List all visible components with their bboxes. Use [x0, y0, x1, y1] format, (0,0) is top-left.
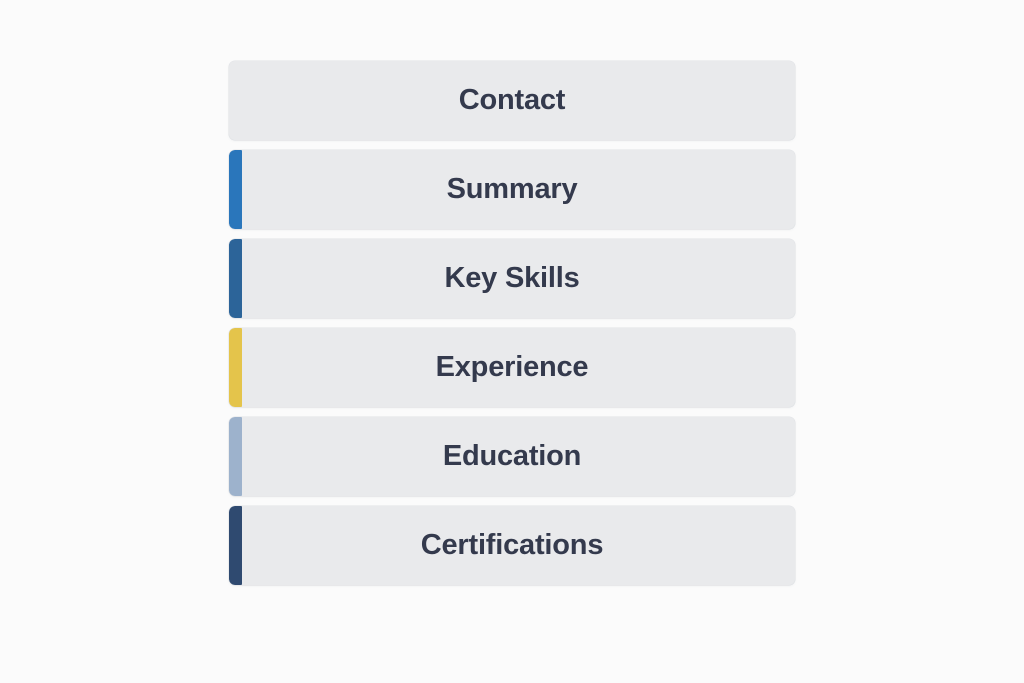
section-accent-bar-experience	[229, 328, 242, 407]
section-label-education: Education	[443, 442, 581, 471]
section-accent-bar-summary	[229, 150, 242, 229]
section-card-summary[interactable]: Summary	[229, 150, 795, 229]
section-accent-bar-certifications	[229, 506, 242, 585]
resume-section-list: Contact Summary Key Skills Experience Ed…	[229, 61, 795, 585]
section-card-contact[interactable]: Contact	[229, 61, 795, 140]
section-label-experience: Experience	[436, 353, 589, 382]
section-label-contact: Contact	[459, 86, 566, 115]
section-card-certifications[interactable]: Certifications	[229, 506, 795, 585]
section-card-education[interactable]: Education	[229, 417, 795, 496]
section-label-key-skills: Key Skills	[444, 264, 579, 293]
section-label-summary: Summary	[447, 175, 578, 204]
section-accent-bar-education	[229, 417, 242, 496]
section-card-key-skills[interactable]: Key Skills	[229, 239, 795, 318]
section-accent-bar-key-skills	[229, 239, 242, 318]
section-card-experience[interactable]: Experience	[229, 328, 795, 407]
section-label-certifications: Certifications	[421, 531, 604, 560]
